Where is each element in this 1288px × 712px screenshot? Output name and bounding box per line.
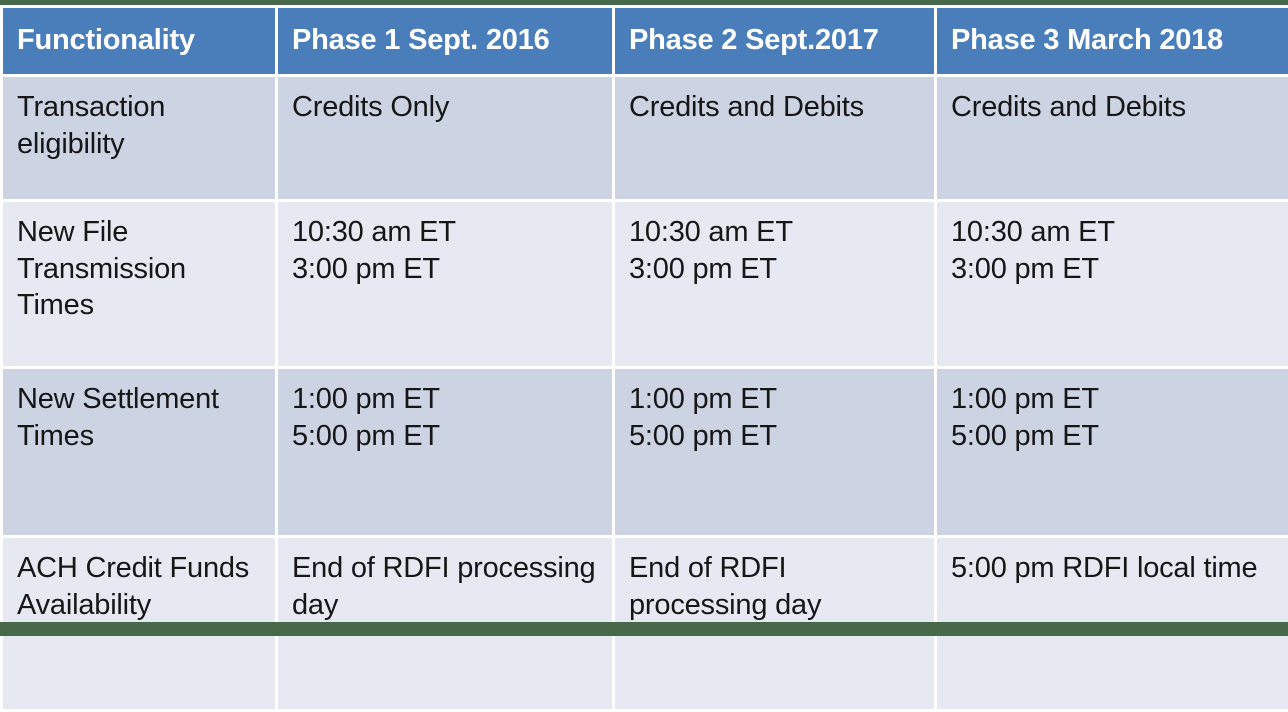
table-row: Transaction eligibility Credits Only Cre…: [3, 77, 1288, 199]
table-header-row: Functionality Phase 1 Sept. 2016 Phase 2…: [3, 8, 1288, 74]
cell-phase-2: Credits and Debits: [615, 77, 934, 199]
phase-comparison-table-wrapper: Functionality Phase 1 Sept. 2016 Phase 2…: [0, 5, 1283, 622]
cell-line: 5:00 pm ET: [292, 418, 602, 455]
cell-functionality: Transaction eligibility: [3, 77, 275, 199]
table-body: Transaction eligibility Credits Only Cre…: [3, 77, 1288, 709]
cell-phase-1: Credits Only: [278, 77, 612, 199]
cell-line: 1:00 pm ET: [951, 381, 1279, 418]
cell-line: 1:00 pm ET: [292, 381, 602, 418]
column-header-phase-2: Phase 2 Sept.2017: [615, 8, 934, 74]
table-header: Functionality Phase 1 Sept. 2016 Phase 2…: [3, 8, 1288, 74]
cell-line: 3:00 pm ET: [951, 251, 1279, 288]
cell-line: 10:30 am ET: [292, 214, 602, 251]
cell-phase-3: 1:00 pm ET 5:00 pm ET: [937, 369, 1288, 535]
cell-phase-2: 10:30 am ET 3:00 pm ET: [615, 202, 934, 366]
bottom-accent-band: [0, 622, 1288, 636]
phase-comparison-table: Functionality Phase 1 Sept. 2016 Phase 2…: [0, 5, 1288, 712]
table-row: New Settlement Times 1:00 pm ET 5:00 pm …: [3, 369, 1288, 535]
cell-line: 3:00 pm ET: [629, 251, 924, 288]
cell-functionality: New Settlement Times: [3, 369, 275, 535]
cell-functionality: New File Transmission Times: [3, 202, 275, 366]
cell-line: 5:00 pm ET: [951, 418, 1279, 455]
cell-line: 10:30 am ET: [629, 214, 924, 251]
cell-line: 3:00 pm ET: [292, 251, 602, 288]
slide-canvas: Functionality Phase 1 Sept. 2016 Phase 2…: [0, 0, 1288, 636]
cell-line: 10:30 am ET: [951, 214, 1279, 251]
cell-phase-1: 10:30 am ET 3:00 pm ET: [278, 202, 612, 366]
column-header-functionality: Functionality: [3, 8, 275, 74]
column-header-phase-3: Phase 3 March 2018: [937, 8, 1288, 74]
cell-line: 5:00 pm ET: [629, 418, 924, 455]
table-row: New File Transmission Times 10:30 am ET …: [3, 202, 1288, 366]
cell-phase-3: Credits and Debits: [937, 77, 1288, 199]
column-header-phase-1: Phase 1 Sept. 2016: [278, 8, 612, 74]
cell-phase-2: 1:00 pm ET 5:00 pm ET: [615, 369, 934, 535]
cell-line: 1:00 pm ET: [629, 381, 924, 418]
cell-phase-3: 10:30 am ET 3:00 pm ET: [937, 202, 1288, 366]
cell-phase-1: 1:00 pm ET 5:00 pm ET: [278, 369, 612, 535]
